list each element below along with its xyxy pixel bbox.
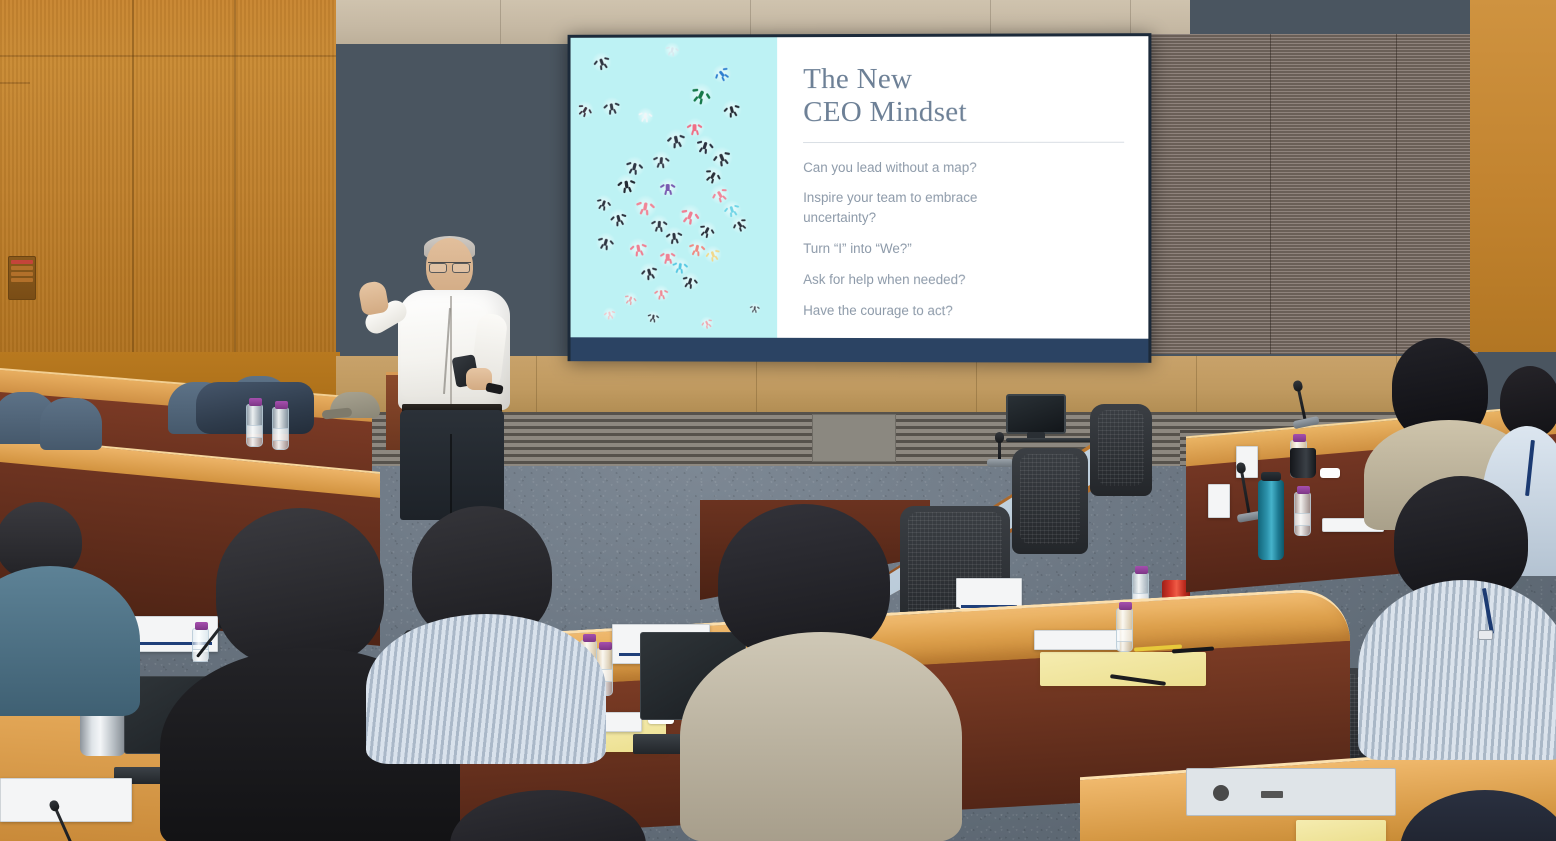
skydiver-16 (618, 177, 634, 193)
slide-skydivers-image (571, 37, 778, 338)
glasses-icon (428, 262, 471, 271)
water-bottle-1[interactable] (246, 404, 263, 447)
skydiver-17 (661, 182, 674, 195)
badge-2 (1478, 630, 1493, 640)
skydiver-37 (624, 293, 637, 306)
slide-bullet-4: Ask for help when needed? (803, 270, 1038, 290)
skydiver-36 (656, 287, 668, 299)
skydiver-35 (683, 273, 698, 289)
skydiver-12 (654, 154, 668, 168)
name-card-foreground (0, 778, 132, 822)
slide-content: The New CEO Mindset Can you lead without… (571, 36, 1149, 339)
trouser-seam (450, 434, 452, 520)
skydiver-19 (596, 196, 611, 211)
slide-bottom-band (571, 337, 1149, 363)
skydiver-38 (605, 309, 616, 320)
mesh-chair-2[interactable] (1012, 448, 1088, 554)
paper-stack (1034, 630, 1120, 650)
skydiver-10 (668, 132, 685, 149)
slide-bullet-1: Can you lead without a map? (803, 157, 1038, 177)
skydiver-33 (673, 259, 687, 273)
dark-container[interactable] (1290, 448, 1316, 478)
skydiver-15 (704, 167, 722, 185)
lecture-hall-scene: The New CEO Mindset Can you lead without… (0, 0, 1556, 841)
skydiver-29 (631, 240, 647, 256)
skydiver-27 (732, 216, 748, 232)
skydiver-5 (605, 100, 620, 115)
skydiver-2 (666, 44, 678, 56)
skydiver-25 (667, 229, 681, 243)
water-bottle-11[interactable] (1116, 608, 1133, 652)
slide-bullet-3: Turn “I” into “We?” (803, 239, 1038, 259)
chair-blue-2[interactable] (40, 398, 102, 450)
presenter (358, 238, 544, 520)
skydiver-34 (641, 264, 657, 280)
skydiver-7 (724, 102, 740, 118)
skydiver-30 (689, 240, 704, 255)
skydiver-23 (681, 205, 700, 224)
skydiver-8 (639, 110, 651, 122)
acoustic-panel-right (1148, 34, 1478, 354)
skydiver-3 (713, 65, 730, 82)
skydiver-20 (636, 197, 653, 214)
yellow-notepad-3[interactable] (1296, 820, 1386, 841)
mesh-chair-1[interactable] (1090, 404, 1152, 496)
skydiver-1 (593, 54, 610, 71)
water-bottle-5[interactable] (1294, 492, 1311, 536)
slide-bullet-2: Inspire your team to embrace uncertainty… (803, 188, 1038, 228)
skydiver-22 (610, 210, 626, 226)
name-card-right-2 (1208, 484, 1230, 518)
table-port-panel[interactable] (1186, 768, 1396, 816)
skydiver-24 (653, 217, 667, 231)
tissue-right (1320, 468, 1340, 478)
skydiver-32 (706, 247, 721, 262)
wall-control-panel[interactable] (8, 256, 36, 300)
slide-text-pane: The New CEO Mindset Can you lead without… (777, 36, 1148, 339)
water-bottle-2[interactable] (272, 407, 289, 450)
skydiver-6 (577, 102, 593, 118)
skydiver-26 (699, 222, 715, 238)
slide-bullet-list: Can you lead without a map?Inspire your … (803, 157, 1124, 321)
skydiver-40 (701, 317, 713, 329)
skydiver-41 (750, 304, 759, 313)
wall-wood-right-column (1470, 0, 1556, 352)
slide-bullet-5: Have the courage to act? (803, 301, 1038, 321)
slide-title-rule (803, 141, 1124, 142)
skydiver-39 (648, 312, 658, 323)
presenter-raised-hand (357, 280, 389, 316)
laptop-center[interactable] (1012, 416, 1094, 442)
skydiver-28 (598, 234, 614, 250)
skydiver-4 (691, 85, 712, 106)
slide-title: The New CEO Mindset (803, 62, 1124, 128)
wall-wood-left (0, 0, 336, 360)
wall-vent (812, 414, 896, 462)
projection-screen: The New CEO Mindset Can you lead without… (568, 33, 1152, 363)
yellow-notepad-2[interactable] (1040, 652, 1206, 686)
skydiver-9 (688, 121, 701, 134)
teal-flask[interactable] (1258, 480, 1284, 560)
presenter-trousers (400, 410, 504, 520)
